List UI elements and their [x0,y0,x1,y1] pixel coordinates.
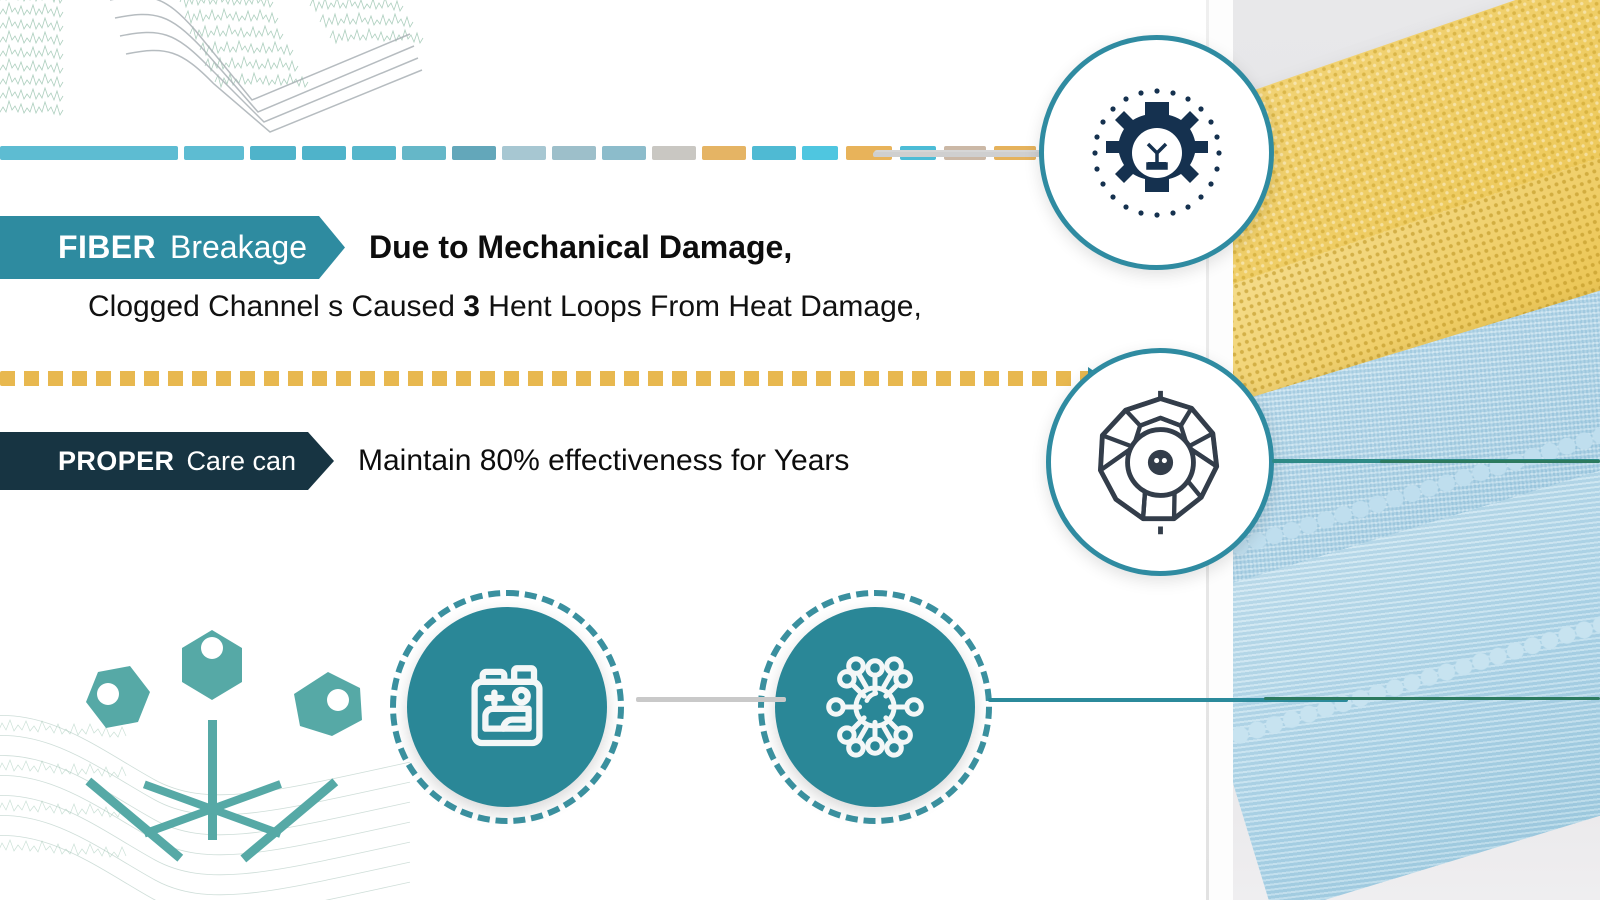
badge-strong-label: FIBER [58,229,156,266]
detergent-container-icon [453,653,561,761]
top-rule-segment [702,146,746,160]
top-rule-segment [0,146,178,160]
icon-circle-gear[interactable] [1039,35,1274,270]
fiber-weave-texture-top [0,0,460,157]
badge-light-label: Care can [186,446,296,477]
amber-dashed-rule [0,371,1090,386]
top-rule-segment [250,146,296,160]
infographic-canvas: FIBER Breakage Due to Mechanical Damage,… [0,0,1600,900]
top-rule-segment [184,146,244,160]
badge-light-label: Breakage [170,229,307,266]
molecule-network-icon [816,648,934,766]
subline-after: Hent Loops From Heat Damage, [480,290,922,323]
top-rule-segment [402,146,446,160]
microfiber-splay-graphic [0,600,410,900]
badge-proper-care: PROPER Care can [0,432,334,490]
fiber-polygon-ball-icon [1083,385,1238,540]
connector-gear-line [873,152,1048,157]
gear-with-dotted-ring-icon [1082,78,1232,228]
headline-row1-tail: Due to Mechanical Damage, [369,229,792,266]
top-rule-segment [602,146,646,160]
top-rule-segment [652,146,696,160]
top-rule-segment [552,146,596,160]
badge-fiber-breakage: FIBER Breakage [0,216,345,279]
icon-circle-fiber-ball[interactable] [1046,348,1274,576]
headline-row-fiber-breakage: FIBER Breakage Due to Mechanical Damage, [0,216,792,279]
icon-circle-molecule[interactable] [775,607,975,807]
connector-detergent-to-molecule [636,697,786,702]
top-rule-segment [752,146,796,160]
subline-clogged-channels: Clogged Channel s Caused 3 Hent Loops Fr… [88,290,922,324]
connector-green-lower [1264,697,1600,700]
top-rule-segment [502,146,546,160]
headline-row3-tail: Maintain 80% effectiveness for Years [358,444,849,478]
subline-before: Clogged Channel s Caused [88,290,463,323]
top-rule-segment [802,146,838,160]
top-rule-segment [352,146,396,160]
connector-green-upper [1380,460,1600,463]
icon-circle-detergent[interactable] [407,607,607,807]
top-rule-segment [302,146,346,160]
badge-strong-label: PROPER [58,446,174,477]
headline-row-proper-care: PROPER Care can Maintain 80% effectivene… [0,432,849,490]
top-rule-segment [452,146,496,160]
subline-number: 3 [463,290,480,323]
